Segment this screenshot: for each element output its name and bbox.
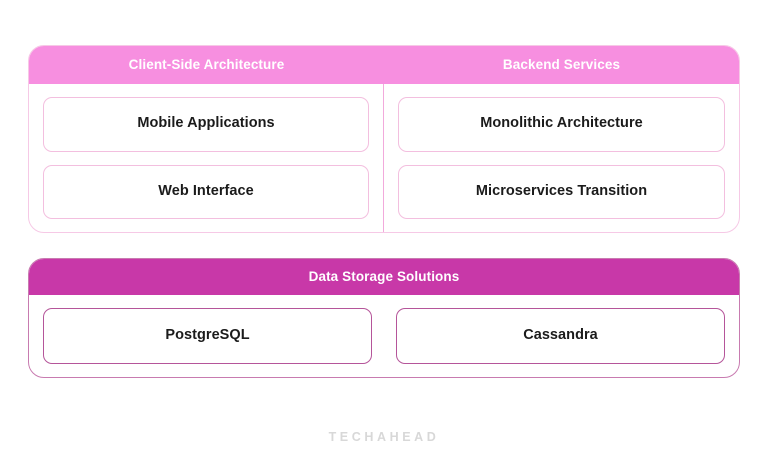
client-side-architecture-column: Mobile Applications Web Interface [29,84,384,232]
client-side-architecture-header: Client-Side Architecture [29,46,384,84]
architecture-header-row: Client-Side Architecture Backend Service… [29,46,739,84]
item-card-postgresql[interactable]: PostgreSQL [43,308,372,364]
client-side-architecture-header-label: Client-Side Architecture [129,58,285,72]
data-storage-solutions-header: Data Storage Solutions [29,259,739,295]
architecture-body-row: Mobile Applications Web Interface Monoli… [29,84,739,232]
item-card-web-interface[interactable]: Web Interface [43,165,369,220]
item-card-monolithic-architecture[interactable]: Monolithic Architecture [398,97,725,152]
item-card-cassandra[interactable]: Cassandra [396,308,725,364]
item-card-mobile-applications[interactable]: Mobile Applications [43,97,369,152]
techahead-watermark: TECHAHEAD [0,431,768,444]
data-storage-body-row: PostgreSQL Cassandra [29,295,739,377]
architecture-section-panel: Client-Side Architecture Backend Service… [28,45,740,233]
backend-services-header: Backend Services [384,46,739,84]
data-storage-section-panel: Data Storage Solutions PostgreSQL Cassan… [28,258,740,378]
item-card-microservices-transition[interactable]: Microservices Transition [398,165,725,220]
data-storage-left-cell: PostgreSQL [43,308,372,364]
data-storage-solutions-header-label: Data Storage Solutions [309,270,460,284]
data-storage-right-cell: Cassandra [396,308,725,364]
diagram-canvas: Client-Side Architecture Backend Service… [0,0,768,457]
backend-services-column: Monolithic Architecture Microservices Tr… [384,84,739,232]
backend-services-header-label: Backend Services [503,58,620,72]
